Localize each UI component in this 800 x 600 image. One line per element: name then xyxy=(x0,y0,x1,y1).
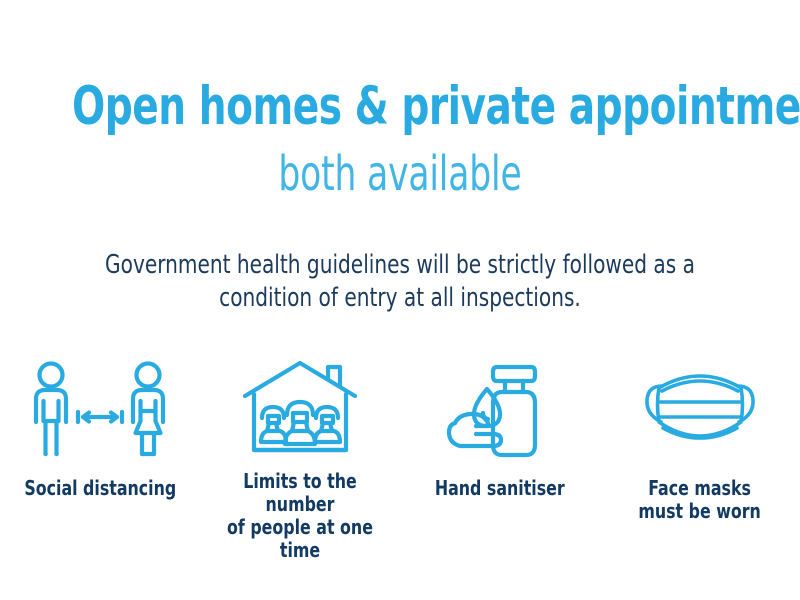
measure-item-social-distancing: Social distancing xyxy=(0,358,200,538)
measure-item-hand-sanitiser: Hand sanitiser xyxy=(400,358,600,538)
safety-measures-row: Social distancing xyxy=(0,358,800,538)
page-title: Open homes & private appointments xyxy=(72,78,728,136)
social-distancing-icon xyxy=(20,358,180,463)
measure-label: Hand sanitiser xyxy=(435,477,565,500)
measure-item-occupancy-limit: Limits to the number of people at one ti… xyxy=(200,358,400,538)
measure-label: Social distancing xyxy=(24,477,176,500)
headline-block: Open homes & private appointments both a… xyxy=(0,78,800,200)
face-mask-icon xyxy=(640,358,760,463)
body-copy: Government health guidelines will be str… xyxy=(99,249,701,315)
measure-item-face-mask: Face masks must be worn xyxy=(600,358,800,538)
measure-label: Face masks must be worn xyxy=(639,477,761,523)
covid-safety-poster: Open homes & private appointments both a… xyxy=(0,0,800,600)
page-subtitle: both available xyxy=(80,148,720,200)
measure-label: Limits to the number of people at one ti… xyxy=(212,470,388,562)
house-occupancy-limit-icon xyxy=(240,358,360,458)
hand-sanitiser-icon xyxy=(445,358,555,463)
